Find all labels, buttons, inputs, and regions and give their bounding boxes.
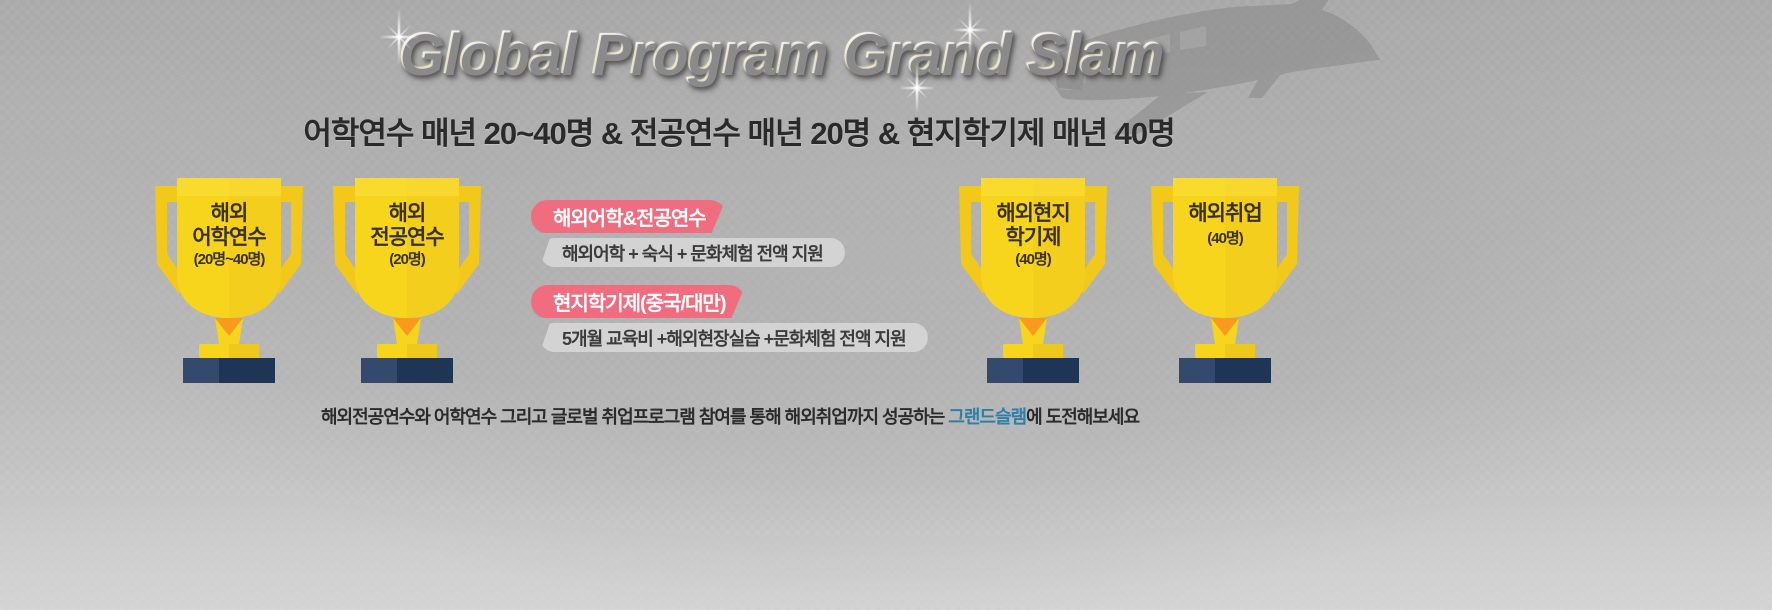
caption-before: 해외전공연수와 어학연수 그리고 글로벌 취업프로그램 참여를 통해 해외취업까… bbox=[321, 407, 948, 427]
program-badge-local-semester: 현지학기제(중국/대만) bbox=[531, 285, 745, 318]
trophy-overseas-language-training: 해외 어학연수 (20명~40명) bbox=[149, 168, 309, 383]
global-program-banner: Global Program Grand Slam 어학연수 매년 20~40명… bbox=[0, 0, 1772, 610]
caption-after: 에 도전해보세요 bbox=[1026, 407, 1139, 427]
trophy-overseas-employment: 해외취업 (40명) bbox=[1145, 168, 1305, 383]
page-title: Global Program Grand Slam bbox=[0, 20, 1560, 87]
trophy-overseas-major-training: 해외 전공연수 (20명) bbox=[327, 168, 487, 383]
program-badge-language-major: 해외어학&전공연수 bbox=[531, 200, 726, 233]
banner-caption: 해외전공연수와 어학연수 그리고 글로벌 취업프로그램 참여를 통해 해외취업까… bbox=[0, 403, 1460, 429]
caption-highlight: 그랜드슬램 bbox=[948, 407, 1026, 427]
page-subtitle: 어학연수 매년 20~40명 & 전공연수 매년 20명 & 현지학기제 매년 … bbox=[0, 108, 1478, 153]
program-detail-language-major: 해외어학 + 숙식 + 문화체험 전액 지원 bbox=[540, 238, 845, 267]
trophy-overseas-local-semester: 해외현지 학기제 (40명) bbox=[953, 168, 1113, 383]
program-detail-local-semester: 5개월 교육비 +해외현장실습 +문화체험 전액 지원 bbox=[540, 323, 928, 352]
